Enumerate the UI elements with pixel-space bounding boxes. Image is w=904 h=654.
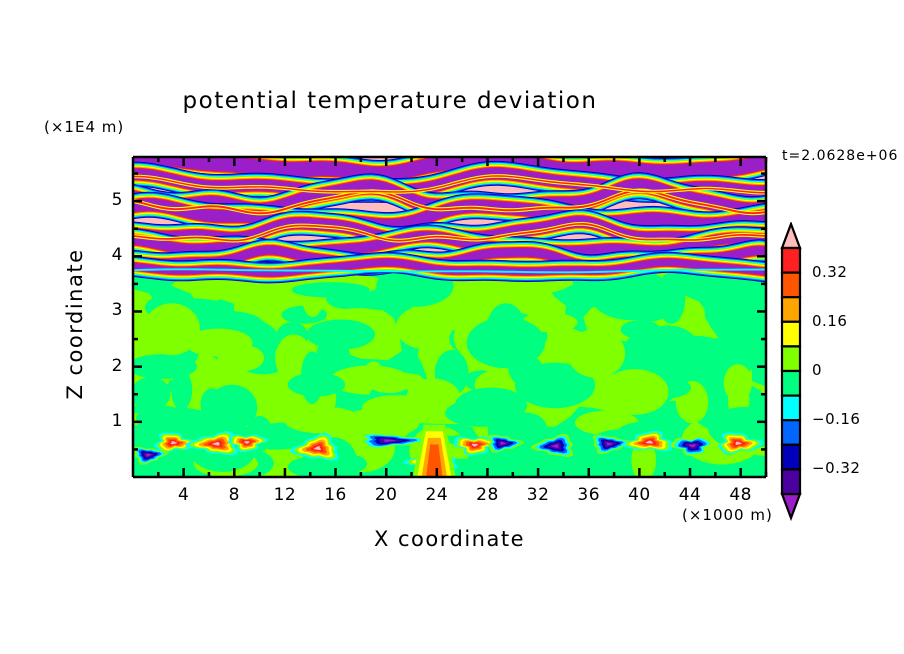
- x-tick-label: 40: [619, 485, 659, 505]
- x-tick-label: 28: [467, 485, 507, 505]
- y-tick-label: 4: [97, 245, 123, 265]
- y-tick-label: 5: [97, 190, 123, 210]
- x-tick-label: 24: [417, 485, 457, 505]
- x-tick-label: 36: [569, 485, 609, 505]
- colorbar-tick-label: 0: [812, 361, 822, 379]
- y-axis-title: Z coordinate: [63, 214, 87, 434]
- y-tick-label: 1: [97, 411, 123, 431]
- colorbar-tick-label: 0.32: [812, 263, 847, 281]
- figure-canvas: potential temperature deviation (×1E4 m)…: [0, 0, 904, 654]
- x-tick-label: 8: [214, 485, 254, 505]
- axes-frame: [120, 145, 800, 505]
- z-axis-unit-label: (×1E4 m): [44, 118, 124, 136]
- x-tick-label: 48: [721, 485, 761, 505]
- x-tick-label: 16: [316, 485, 356, 505]
- x-tick-label: 32: [518, 485, 558, 505]
- colorbar-tick-label: −0.16: [812, 410, 860, 428]
- colorbar-tick-label: 0.16: [812, 312, 847, 330]
- x-tick-label: 12: [265, 485, 305, 505]
- x-tick-label: 20: [366, 485, 406, 505]
- x-axis-unit-label: (×1000 m): [682, 506, 773, 524]
- page-title: potential temperature deviation: [0, 88, 780, 114]
- x-axis-title: X coordinate: [133, 527, 766, 551]
- x-tick-label: 4: [164, 485, 204, 505]
- y-tick-label: 3: [97, 300, 123, 320]
- colorbar: [778, 222, 814, 522]
- x-tick-label: 44: [670, 485, 710, 505]
- y-tick-label: 2: [97, 356, 123, 376]
- colorbar-tick-label: −0.32: [812, 459, 860, 477]
